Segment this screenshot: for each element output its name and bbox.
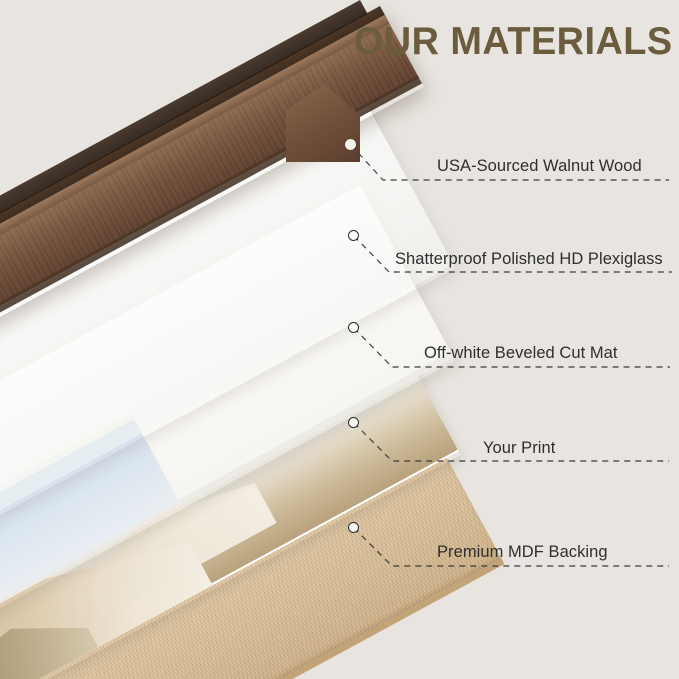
callout-label-mdf-backing: Premium MDF Backing [437,543,608,562]
callout-label-your-print: Your Print [483,439,555,458]
materials-infographic: OUR MATERIALS USA-Sourced Walnut WoodSha… [0,0,679,679]
callout-marker-mdf-backing[interactable] [348,522,359,533]
callout-marker-walnut-wood[interactable] [345,139,356,150]
callout-label-walnut-wood: USA-Sourced Walnut Wood [437,157,642,176]
exploded-frame-illustration [0,0,679,679]
callout-marker-plexiglass[interactable] [348,230,359,241]
page-title: OUR MATERIALS [354,20,673,64]
callout-label-mat: Off-white Beveled Cut Mat [424,344,618,363]
callout-label-plexiglass: Shatterproof Polished HD Plexiglass [395,250,663,269]
callout-marker-your-print[interactable] [348,417,359,428]
callout-marker-mat[interactable] [348,322,359,333]
